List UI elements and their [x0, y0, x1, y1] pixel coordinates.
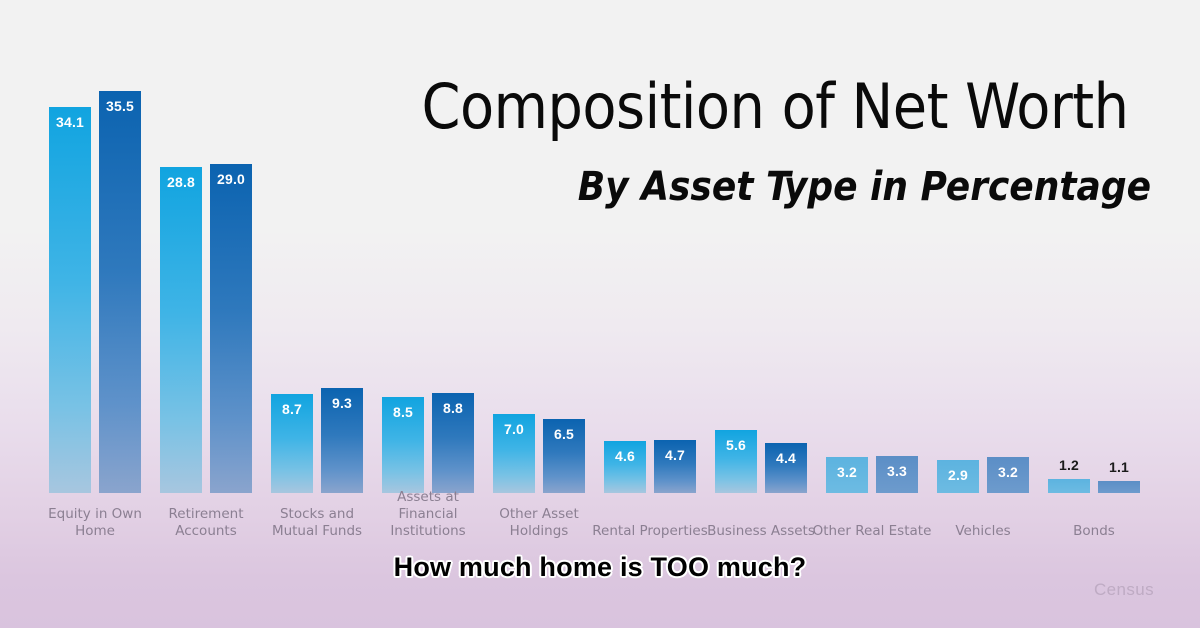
- bar: 1.1: [1098, 481, 1140, 493]
- bar: 3.2: [987, 457, 1029, 493]
- chart-subtitle: By Asset Type in Percentage: [395, 164, 1155, 210]
- bar: 1.2: [1048, 479, 1090, 493]
- bar-value-label: 2.9: [937, 467, 979, 483]
- bar: 4.6: [604, 441, 646, 493]
- x-axis-category-line: Bonds: [1029, 523, 1159, 540]
- bar: 9.3: [321, 388, 363, 493]
- source-watermark: Census: [1094, 580, 1154, 600]
- bar-value-label: 35.5: [99, 98, 141, 114]
- bar-value-label: 5.6: [715, 437, 757, 453]
- title-block: Composition of Net Worth By Asset Type i…: [395, 72, 1155, 210]
- bar-value-label: 7.0: [493, 421, 535, 437]
- bar-value-label: 34.1: [49, 114, 91, 130]
- x-axis-category-line: Other Asset: [474, 506, 604, 523]
- bar-value-label: 3.2: [826, 464, 868, 480]
- bar: 7.0: [493, 414, 535, 493]
- bar-value-label: 8.5: [382, 404, 424, 420]
- chart-caption: How much home is TOO much?: [0, 552, 1200, 583]
- bar: 3.3: [876, 456, 918, 493]
- bar: 5.6: [715, 430, 757, 493]
- bar: 4.4: [765, 443, 807, 493]
- bar-value-label: 4.6: [604, 448, 646, 464]
- bar-value-label: 28.8: [160, 174, 202, 190]
- bar-value-label: 8.8: [432, 400, 474, 416]
- bar: 2.9: [937, 460, 979, 493]
- bar-value-label: 4.7: [654, 447, 696, 463]
- bar-value-label: 29.0: [210, 171, 252, 187]
- bar-value-label: 6.5: [543, 426, 585, 442]
- bar: 8.8: [432, 393, 474, 493]
- bar: 29.0: [210, 164, 252, 493]
- bar: 35.5: [99, 91, 141, 493]
- x-axis-category-line: Assets at: [363, 489, 493, 506]
- bar-value-label: 1.1: [1098, 459, 1140, 475]
- bar-value-label: 8.7: [271, 401, 313, 417]
- bar: 34.1: [49, 107, 91, 493]
- x-axis-category-label: Bonds: [1029, 523, 1159, 540]
- bar: 28.8: [160, 167, 202, 493]
- chart-canvas: 34.135.528.829.08.79.38.58.87.06.54.64.7…: [0, 0, 1200, 628]
- bar-value-label: 4.4: [765, 450, 807, 466]
- bar: 8.5: [382, 397, 424, 493]
- bar-value-label: 1.2: [1048, 457, 1090, 473]
- bar: 8.7: [271, 394, 313, 493]
- bar: 3.2: [826, 457, 868, 493]
- bar-value-label: 3.3: [876, 463, 918, 479]
- bar-value-label: 3.2: [987, 464, 1029, 480]
- bar: 4.7: [654, 440, 696, 493]
- bar-value-label: 9.3: [321, 395, 363, 411]
- page-title: Composition of Net Worth: [395, 72, 1155, 142]
- bar: 6.5: [543, 419, 585, 493]
